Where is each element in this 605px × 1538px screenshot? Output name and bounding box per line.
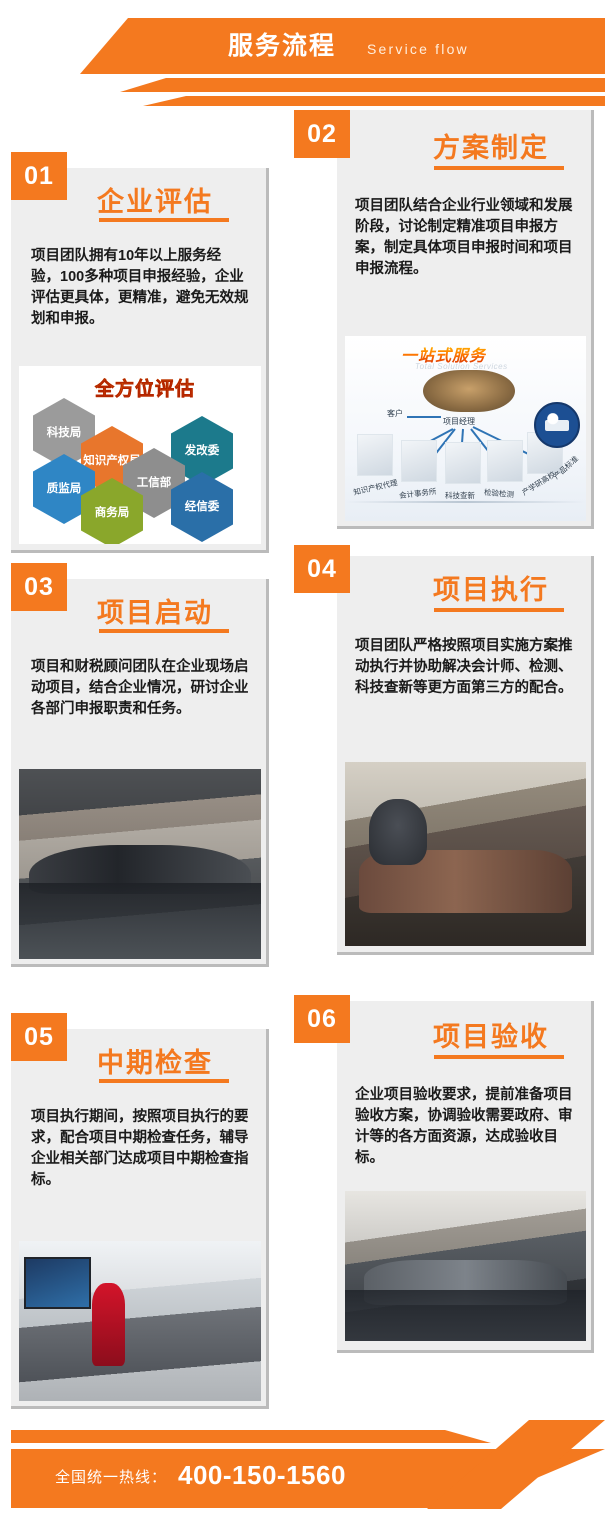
assessment-hex-diagram: 全方位评估 科技局 知识产权局 发改委 质监局 工信部 商务局 经信委 [19,366,261,544]
step-number-badge: 03 [11,563,67,611]
hotline-label: 全国统一热线： [55,1466,167,1490]
title-underline [434,166,564,170]
step-number-badge: 06 [294,995,350,1043]
arrow-to-client [407,416,441,418]
card-description: 项目和财税顾问团队在企业现场启动项目，结合企业情况，研讨企业各部门申报职责和任务… [31,657,249,720]
hotline-number[interactable]: 400-150-1560 [178,1460,346,1490]
step-number-badge: 02 [294,110,350,158]
step-card-01: 01 企业评估 项目团队拥有10年以上服务经验，100多种项目申报经验，企业评估… [11,168,269,553]
card-description: 项目团队严格按照项目实施方案推动执行并协助解决会计师、检测、科技查新等更方面第三… [355,636,577,699]
diagram-label-client: 客户 [387,408,403,419]
page-footer: 全国统一热线： 400-150-1560 [0,1420,605,1538]
onestop-service-diagram: 一站式服务 Total Solution Services 客户 项目经理 知识… [345,336,586,521]
card-description: 企业项目验收要求，提前准备项目验收方案，协调验收需要政府、审计等的各方面资源，达… [355,1085,577,1169]
step-card-05: 05 中期检查 项目执行期间，按照项目执行的要求，配合项目中期检查任务，辅导企业… [11,1029,269,1409]
hex-diagram-title: 全方位评估 [95,374,195,401]
title-underline [99,1079,229,1083]
card-title: 项目验收 [433,1015,549,1054]
diagram-label-project-manager: 项目经理 [443,416,475,427]
card-photo-work-session [345,762,586,946]
card-title: 项目执行 [433,568,549,607]
step-card-04: 04 项目执行 项目团队严格按照项目实施方案推动执行并协助解决会计师、检测、科技… [337,556,594,955]
card-title: 中期检查 [97,1041,213,1080]
diagram-node-ip-agency [357,434,393,476]
card-description: 项目团队拥有10年以上服务经验，100多种项目申报经验，企业评估更具体，更精准，… [31,246,249,330]
step-number-badge: 01 [11,152,67,200]
title-underline [434,608,564,612]
diagram-baseline [345,501,586,503]
diagram-node-accounting [401,440,437,482]
diagram-node-novelty-search [445,442,481,484]
diagram-node-label-2: 科技查新 [445,490,475,501]
card-photo-showroom [19,1241,261,1401]
step-number-badge: 05 [11,1013,67,1061]
title-underline [99,218,229,222]
step-number-badge: 04 [294,545,350,593]
title-underline [99,629,229,633]
step-card-06: 06 项目验收 企业项目验收要求，提前准备项目验收方案，协调验收需要政府、审计等… [337,1001,594,1353]
step-card-03: 03 项目启动 项目和财税顾问团队在企业现场启动项目，结合企业情况，研讨企业各部… [11,579,269,967]
diagram-node-label-0: 知识产权代理 [352,477,398,498]
header-stripe-lower [0,96,605,106]
step-card-02: 02 方案制定 项目团队结合企业行业领域和发展阶段，讨论制定精准项目申报方案，制… [337,110,594,529]
card-description: 项目团队结合企业行业领域和发展阶段，讨论制定精准项目申报方案，制定具体项目申报时… [355,196,577,280]
page-subtitle: Service flow [367,38,469,60]
card-title: 企业评估 [97,180,213,219]
card-description: 项目执行期间，按照项目执行的要求，配合项目中期检查任务，辅导企业相关部门达成项目… [31,1107,249,1191]
page-header: 服务流程 Service flow [0,0,605,112]
diagram-certification-seal-icon [534,402,580,448]
page-title: 服务流程 [228,28,336,64]
card-photo-audit-meeting [345,1191,586,1341]
diagram-node-label-1: 会计事务所 [398,486,437,501]
card-title: 方案制定 [433,126,549,165]
diagram-node-label-3: 检验检测 [484,487,515,501]
card-photo-meeting-room [19,769,261,959]
card-title: 项目启动 [97,591,213,630]
title-underline [434,1055,564,1059]
diagram-hub-photo [423,370,515,412]
header-stripe-upper [0,78,605,92]
diagram-node-inspection [487,440,523,482]
